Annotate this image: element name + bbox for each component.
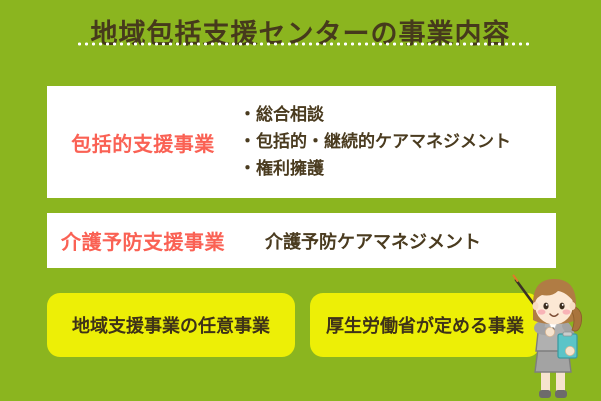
card-optional-label: 地域支援事業の任意事業: [72, 312, 270, 338]
card-ministry-projects: 厚生労働省が定める事業: [310, 293, 540, 357]
card-optional-projects: 地域支援事業の任意事業: [47, 293, 295, 357]
title-dotted-underline: [76, 42, 530, 46]
card-comprehensive-support: 包括的支援事業 総合相談 包括的・継続的ケアマネジメント 権利擁護: [47, 86, 556, 198]
title-block: 地域包括支援センターの事業内容: [0, 18, 601, 52]
slide-canvas: 地域包括支援センターの事業内容 包括的支援事業 総合相談 包括的・継続的ケアマネ…: [0, 0, 601, 401]
card-ministry-label: 厚生労働省が定める事業: [326, 312, 524, 338]
woman-teacher-with-pointer-icon: [508, 272, 601, 401]
card-comprehensive-category-label: 包括的支援事業: [47, 128, 239, 157]
list-item: 権利擁護: [239, 156, 511, 183]
list-item: 包括的・継続的ケアマネジメント: [239, 129, 511, 156]
card-prevention-detail-text: 介護予防ケアマネジメント: [239, 228, 481, 254]
comprehensive-item-list: 総合相談 包括的・継続的ケアマネジメント 権利擁護: [239, 102, 511, 183]
card-prevention-category-label: 介護予防支援事業: [47, 226, 239, 255]
page-title: 地域包括支援センターの事業内容: [0, 18, 601, 52]
card-prevention-support: 介護予防支援事業 介護予防ケアマネジメント: [47, 213, 556, 268]
list-item: 総合相談: [239, 102, 511, 129]
